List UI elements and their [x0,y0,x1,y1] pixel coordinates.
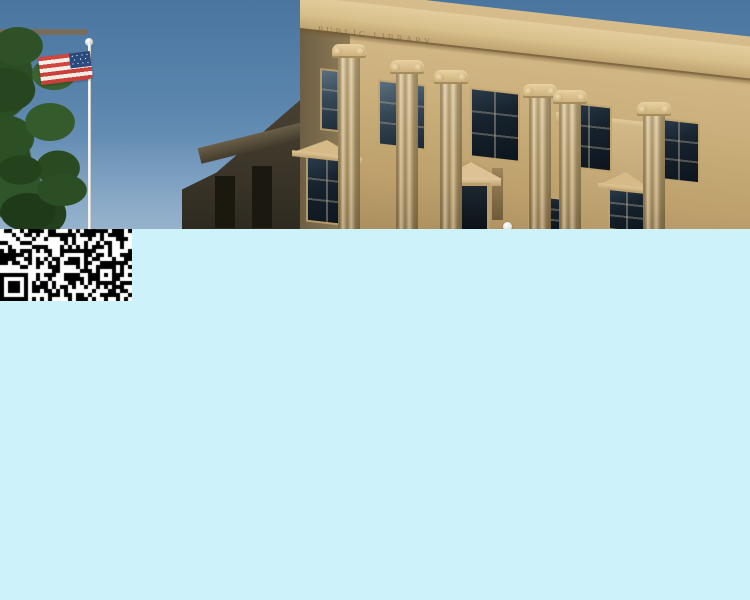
window-muntins [610,190,644,229]
wing-window [252,166,272,228]
library-survey-flyer: PUBLIC LIBRARY [0,0,750,600]
ionic-column [338,58,360,229]
entrance-lamp [503,222,512,229]
ionic-column [396,74,418,229]
foreground-tree-lower [0,150,110,229]
flag-canton [69,51,92,68]
ionic-capital [553,90,587,104]
ionic-column [529,98,551,229]
ionic-capital [637,102,671,116]
ionic-capital [523,84,557,98]
upper-window [660,120,698,182]
ionic-column [559,104,581,229]
library-building-photo: PUBLIC LIBRARY [0,0,750,229]
wing-window [215,176,235,228]
lower-window [610,190,644,229]
window-muntins [472,89,518,160]
ionic-column [440,84,462,229]
ionic-column [643,116,665,229]
window-muntins [660,120,698,182]
upper-window [472,89,518,160]
ionic-capital [434,70,468,84]
ionic-capital [332,44,366,58]
ionic-capital [390,60,424,74]
